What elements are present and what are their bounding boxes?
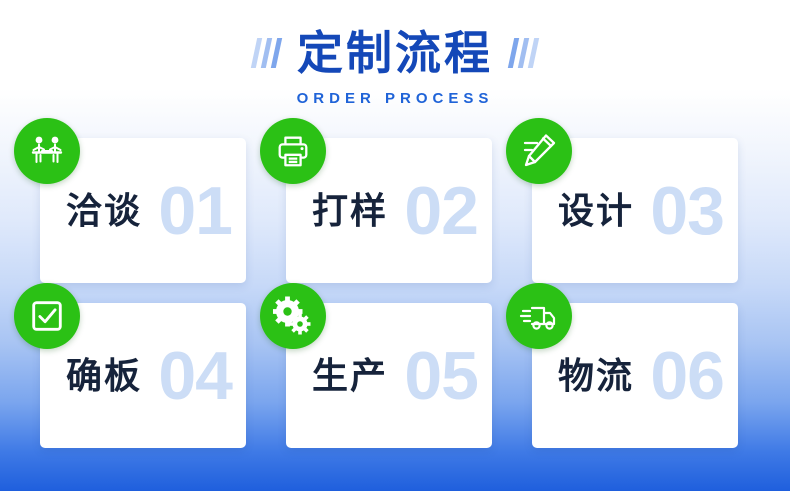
step-card-04: 04 确板 — [40, 303, 246, 448]
step-label: 设计 — [558, 193, 634, 229]
step-card-02: 02 打样 — [286, 138, 492, 283]
gears-icon — [273, 296, 313, 336]
step-number: 03 — [650, 177, 724, 245]
page-subtitle: ORDER PROCESS — [0, 90, 790, 107]
step-badge-02 — [260, 118, 326, 184]
truck-icon — [519, 296, 559, 336]
decorative-bars-right-icon — [511, 38, 536, 68]
step-card-01: 01 洽谈 — [40, 138, 246, 283]
step-card-03: 03 设计 — [532, 138, 738, 283]
step-label: 打样 — [312, 193, 388, 229]
step-label: 确板 — [66, 358, 142, 394]
step-badge-06 — [506, 283, 572, 349]
steps-grid: 01 洽谈 02 — [40, 138, 750, 448]
page-title: 定制流程 — [297, 30, 493, 76]
step-badge-03 — [506, 118, 572, 184]
order-process-banner: 定制流程 ORDER PROCESS 01 洽谈 — [0, 0, 790, 491]
step-card-06: 06 物流 — [532, 303, 738, 448]
step-badge-01 — [14, 118, 80, 184]
step-card-05: 05 生产 — [286, 303, 492, 448]
step-label: 洽谈 — [66, 193, 142, 229]
step-badge-04 — [14, 283, 80, 349]
decorative-bars-left-icon — [254, 38, 279, 68]
printer-icon — [274, 132, 312, 170]
step-number: 05 — [404, 342, 478, 410]
title-row: 定制流程 — [0, 30, 790, 76]
step-number: 02 — [404, 177, 478, 245]
header: 定制流程 ORDER PROCESS — [0, 30, 790, 107]
step-label: 物流 — [558, 358, 634, 394]
design-pencil-icon — [519, 131, 559, 171]
step-label: 生产 — [312, 358, 388, 394]
checkbox-confirm-icon — [28, 297, 66, 335]
step-number: 06 — [650, 342, 724, 410]
step-number: 01 — [158, 177, 232, 245]
step-number: 04 — [158, 342, 232, 410]
negotiation-icon — [27, 131, 67, 171]
step-badge-05 — [260, 283, 326, 349]
